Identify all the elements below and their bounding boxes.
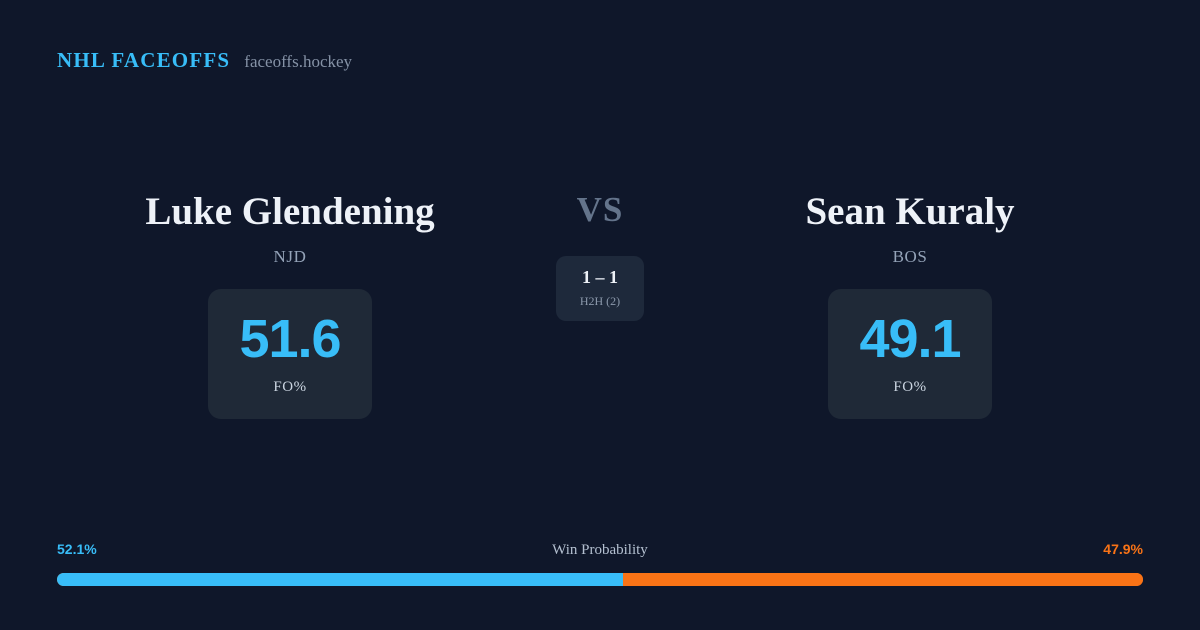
stat-label-right: FO% bbox=[893, 379, 926, 396]
stat-card-right: 49.1 FO% bbox=[828, 289, 992, 419]
matchup-row: Luke Glendening NJD 51.6 FO% VS 1 – 1 H2… bbox=[0, 192, 1200, 432]
stat-value-left: 51.6 bbox=[239, 312, 340, 366]
head-to-head-caption: H2H (2) bbox=[580, 294, 620, 309]
stat-label-left: FO% bbox=[273, 379, 306, 396]
site-domain-text: faceoffs.hockey bbox=[244, 52, 352, 72]
stat-card-left: 51.6 FO% bbox=[208, 289, 372, 419]
head-to-head-score: 1 – 1 bbox=[582, 268, 618, 286]
site-header: NHL FACEOFFS faceoffs.hockey bbox=[57, 48, 352, 73]
player-name-left: Luke Glendening bbox=[145, 192, 434, 231]
win-probability-section: 52.1% Win Probability 47.9% bbox=[57, 541, 1143, 586]
player-name-right: Sean Kuraly bbox=[805, 192, 1014, 231]
player-card-right: Sean Kuraly BOS 49.1 FO% bbox=[700, 192, 1120, 419]
head-to-head-badge: 1 – 1 H2H (2) bbox=[556, 256, 644, 321]
win-probability-fill-left bbox=[57, 573, 623, 586]
win-probability-fill-right bbox=[623, 573, 1143, 586]
matchup-graphic: NHL FACEOFFS faceoffs.hockey Luke Glende… bbox=[0, 0, 1200, 630]
stat-value-right: 49.1 bbox=[859, 312, 960, 366]
win-probability-right-value: 47.9% bbox=[1103, 541, 1143, 557]
player-team-right: BOS bbox=[893, 247, 928, 267]
win-probability-labels: 52.1% Win Probability 47.9% bbox=[57, 541, 1143, 563]
player-team-left: NJD bbox=[274, 247, 307, 267]
win-probability-title: Win Probability bbox=[57, 542, 1143, 559]
win-probability-bar bbox=[57, 573, 1143, 586]
versus-block: VS 1 – 1 H2H (2) bbox=[500, 192, 700, 321]
player-card-left: Luke Glendening NJD 51.6 FO% bbox=[80, 192, 500, 419]
versus-label: VS bbox=[577, 192, 624, 227]
brand-logo-text: NHL FACEOFFS bbox=[57, 48, 230, 73]
